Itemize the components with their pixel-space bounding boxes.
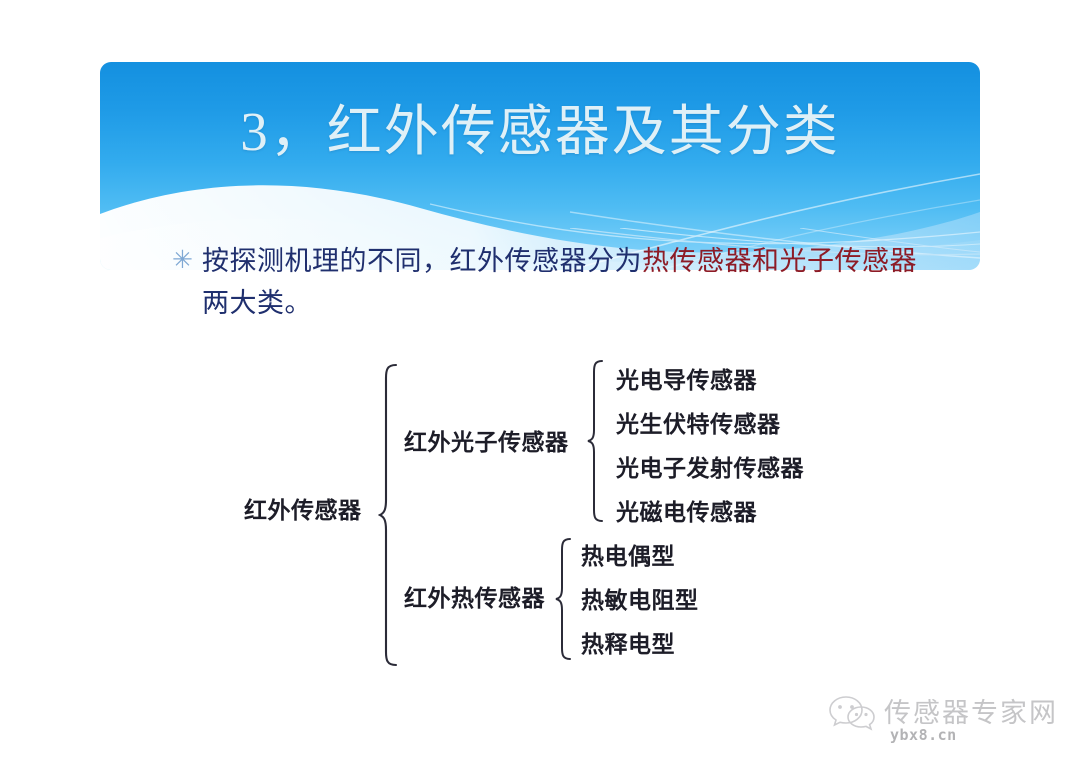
bullet-segment-navy-1: 按探测机理的不同， (202, 246, 450, 276)
tree-root-label: 红外传感器 (244, 496, 362, 526)
bullet-segment-red-2: 子传感器 (807, 246, 917, 276)
slide-canvas: 3，红外传感器及其分类 ✳ 按探测机理的不同，红外传感器分为热传感器和光子传感器… (0, 0, 1080, 764)
tree-branch-label-1: 红外热传感器 (404, 584, 545, 614)
watermark: 传感器专家网 ybx8.cn (828, 694, 1060, 756)
tree-leaf-0-3: 光磁电传感器 (616, 498, 757, 528)
tree-branch-0-brace-icon (586, 358, 608, 524)
page-title: 3，红外传感器及其分类 (100, 100, 980, 163)
bullet-row: ✳ 按探测机理的不同，红外传感器分为热传感器和光子传感器两大类。 (172, 240, 932, 324)
bullet-block: ✳ 按探测机理的不同，红外传感器分为热传感器和光子传感器两大类。 (172, 240, 932, 324)
bullet-segment-navy-3: 两大类。 (202, 288, 312, 318)
tree-leaf-0-1: 光生伏特传感器 (616, 410, 781, 440)
bullet-text: 按探测机理的不同，红外传感器分为热传感器和光子传感器两大类。 (202, 240, 932, 324)
tree-leaf-1-0: 热电偶型 (581, 542, 675, 572)
bullet-segment-navy-2: 红外传感器分为 (450, 246, 643, 276)
watermark-name: 传感器专家网 (884, 697, 1058, 729)
tree-branch-1-brace-icon (554, 536, 576, 662)
wechat-icon (828, 694, 878, 732)
bullet-segment-red-1: 热传感器和光 (642, 246, 807, 276)
page-title-wrapper: 3，红外传感器及其分类 (100, 100, 980, 163)
bullet-marker-icon: ✳ (172, 240, 202, 280)
tree-leaf-0-0: 光电导传感器 (616, 366, 757, 396)
tree-branch-label-0: 红外光子传感器 (404, 428, 569, 458)
classification-tree-diagram: 红外传感器 红外光子传感器 光电导传感器 光生伏特传感器 光电子发射传感器 光磁… (236, 356, 886, 676)
tree-leaf-1-1: 热敏电阻型 (581, 586, 699, 616)
watermark-url: ybx8.cn (890, 726, 957, 744)
tree-root-brace-icon (378, 362, 404, 668)
tree-leaf-1-2: 热释电型 (581, 630, 675, 660)
tree-leaf-0-2: 光电子发射传感器 (616, 454, 804, 484)
